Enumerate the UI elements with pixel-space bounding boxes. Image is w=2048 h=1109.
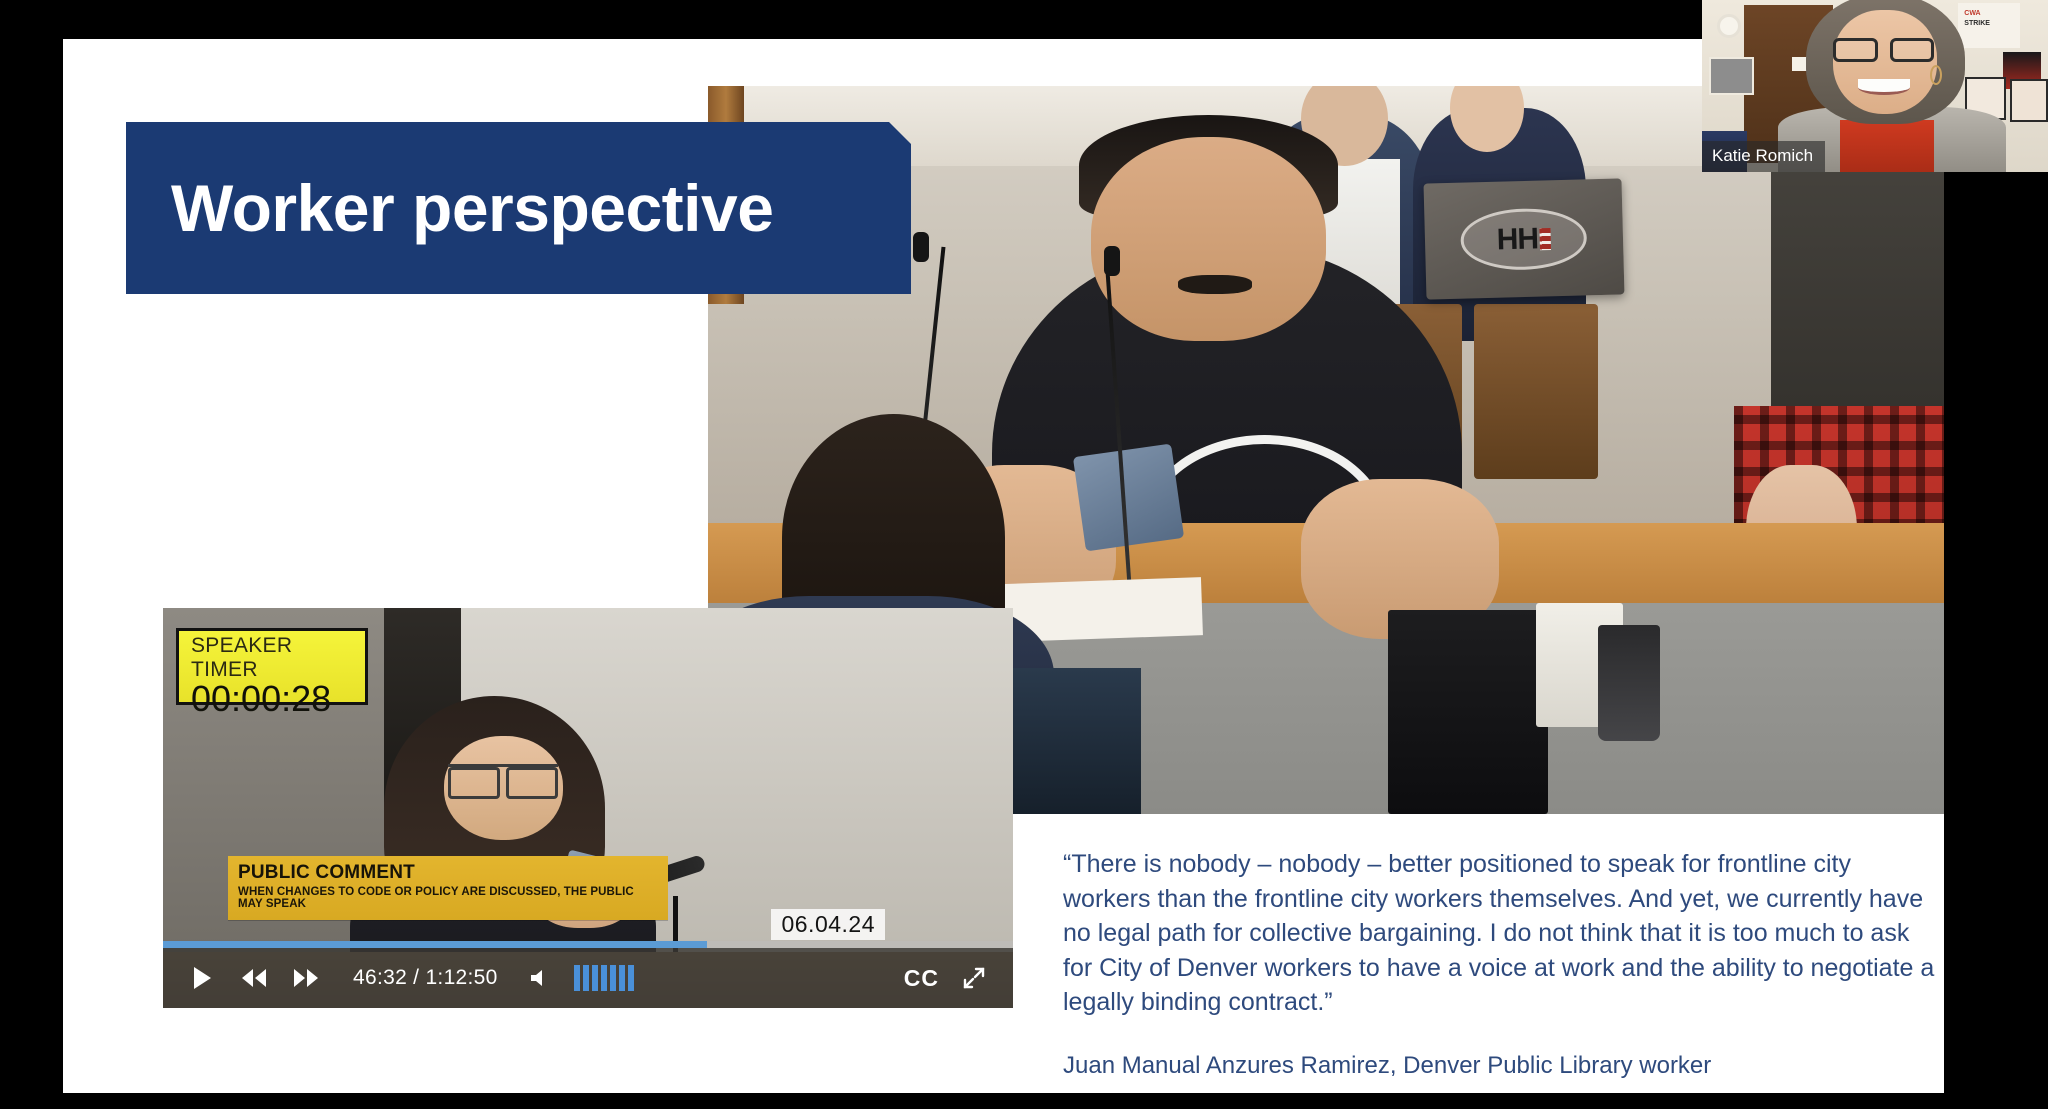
speaker-timer-label: SPEAKER TIMER xyxy=(191,634,357,682)
video-time-display: 46:32 / 1:12:50 xyxy=(353,966,498,990)
video-progress-bar[interactable] xyxy=(163,941,1013,948)
public-comment-subtitle: WHEN CHANGES TO CODE OR POLICY ARE DISCU… xyxy=(238,886,658,910)
participant-name-label: Katie Romich xyxy=(1702,141,1825,172)
closed-captions-button[interactable]: CC xyxy=(904,965,939,992)
page-title: Worker perspective xyxy=(126,170,773,246)
participant-poster-cwa: CWA STRIKE xyxy=(1958,3,2020,48)
rewind-icon[interactable] xyxy=(237,961,271,995)
quote-attribution: Juan Manual Anzures Ramirez, Denver Publ… xyxy=(1063,1052,1943,1080)
hh-logo-icon: HH xyxy=(1460,207,1588,271)
participant-poster-4 xyxy=(2010,79,2048,122)
poster-line-2: STRIKE xyxy=(1964,20,1990,27)
photo-speaker-moustache xyxy=(1178,275,1252,294)
wall-clock-icon xyxy=(1717,14,1741,38)
photo-cup xyxy=(1598,625,1660,741)
speaker-icon[interactable] xyxy=(522,961,556,995)
poster-line-1: CWA xyxy=(1964,10,1980,17)
photo-monitor xyxy=(1388,610,1549,814)
video-speaker-glasses xyxy=(448,764,559,784)
video-controls-bar: 46:32 / 1:12:50 CC xyxy=(163,948,1013,1008)
public-comment-lower-third: PUBLIC COMMENT WHEN CHANGES TO CODE OR P… xyxy=(228,856,668,920)
slide-title-banner: Worker perspective xyxy=(126,122,911,294)
shared-slide: HH xyxy=(63,39,1944,1093)
volume-slider[interactable] xyxy=(574,965,634,991)
participant-face xyxy=(1833,10,1937,113)
participant-video-tile[interactable]: CWA STRIKE Katie Romich xyxy=(1702,0,2048,172)
embedded-video-player[interactable]: SPEAKER TIMER 00:00:28 PUBLIC COMMENT WH… xyxy=(163,608,1013,1008)
photo-microphone-2-head xyxy=(1104,246,1120,276)
photo-speaker-head xyxy=(1091,137,1326,341)
public-comment-title: PUBLIC COMMENT xyxy=(238,862,658,884)
participant-glasses xyxy=(1833,38,1933,62)
quote-text: “There is nobody – nobody – better posit… xyxy=(1063,847,1943,1020)
photo-chair-2 xyxy=(1474,304,1598,479)
participant-smile xyxy=(1858,79,1910,94)
participant-shirt xyxy=(1840,120,1933,172)
photo-speaker-phone xyxy=(1073,444,1184,551)
photo-microphone-1-head xyxy=(913,232,929,262)
broadcast-date-overlay: 06.04.24 xyxy=(771,909,885,940)
participant-framed-picture xyxy=(1709,57,1754,95)
speaker-timer-value: 00:00:28 xyxy=(191,680,357,718)
fast-forward-icon[interactable] xyxy=(289,961,323,995)
screen: HH xyxy=(0,0,2048,1109)
play-icon[interactable] xyxy=(185,961,219,995)
fullscreen-icon[interactable] xyxy=(957,961,991,995)
video-progress-fill xyxy=(163,941,707,948)
speaker-timer-overlay: SPEAKER TIMER 00:00:28 xyxy=(176,628,368,705)
quote-block: “There is nobody – nobody – better posit… xyxy=(1063,847,1943,1080)
photo-laptop-with-sticker: HH xyxy=(1423,178,1624,300)
hh-logo-text: HH xyxy=(1496,221,1538,256)
